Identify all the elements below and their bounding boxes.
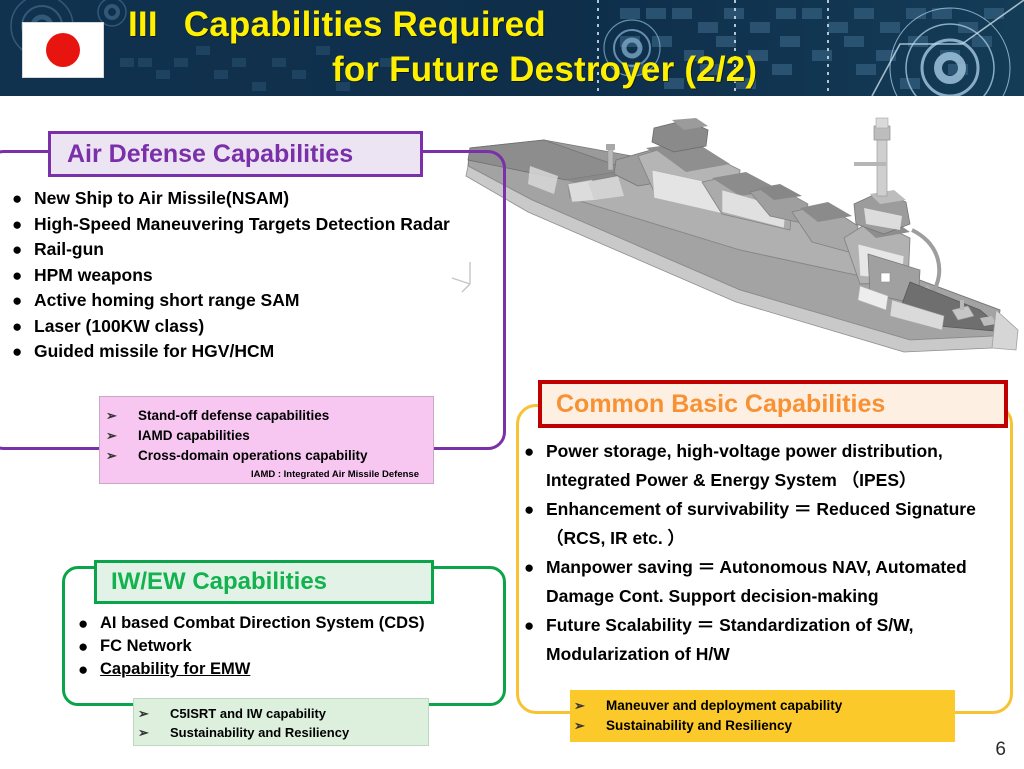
list-item: ● Active homing short range SAM <box>12 288 492 314</box>
arrow-bullet-icon: ➢ <box>574 696 606 716</box>
list-item: ➢ Maneuver and deployment capability <box>574 696 949 716</box>
banner-underline <box>0 96 1024 102</box>
bullet-icon: ● <box>12 288 34 314</box>
iw-ew-title: IW/EW Capabilities <box>111 568 327 596</box>
list-item-label: AI based Combat Direction System (CDS) <box>100 612 508 635</box>
arrow-bullet-icon: ➢ <box>106 426 138 446</box>
list-item-label: Stand-off defense capabilities <box>138 406 329 426</box>
list-item-label: Future Scalability ＝ Standardization of … <box>546 611 1019 669</box>
bullet-icon: ● <box>78 658 100 681</box>
list-item-label: Sustainability and Resiliency <box>170 723 349 742</box>
bullet-icon: ● <box>12 263 34 289</box>
list-item: ● New Ship to Air Missile(NSAM) <box>12 186 492 212</box>
bullet-icon: ● <box>78 635 100 658</box>
bullet-icon: ● <box>12 314 34 340</box>
arrow-bullet-icon: ➢ <box>106 406 138 426</box>
list-item: ➢ Sustainability and Resiliency <box>574 716 949 736</box>
bullet-icon: ● <box>524 553 546 582</box>
list-item-label: Guided missile for HGV/HCM <box>34 339 492 365</box>
list-item-label: IAMD capabilities <box>138 426 250 446</box>
iw-ew-summary-box: ➢ C5ISRT and IW capability ➢ Sustainabil… <box>133 698 429 746</box>
list-item-label: Sustainability and Resiliency <box>606 716 792 736</box>
list-item: ● Manpower saving ＝ Autonomous NAV, Auto… <box>524 553 1019 611</box>
common-basic-header: Common Basic Capabilities <box>538 380 1008 428</box>
future-destroyer-illustration <box>440 104 1024 380</box>
bullet-icon: ● <box>524 437 546 466</box>
bullet-icon: ● <box>12 212 34 238</box>
iw-ew-bullet-list: ● AI based Combat Direction System (CDS)… <box>78 612 508 681</box>
list-item: ● HPM weapons <box>12 263 492 289</box>
bullet-icon: ● <box>524 495 546 524</box>
list-item: ➢ Cross-domain operations capability <box>106 446 425 466</box>
slide-canvas: IIICapabilities Required for Future Dest… <box>0 0 1024 769</box>
list-item-label: Enhancement of survivability ＝ Reduced S… <box>546 495 1019 553</box>
list-item: ● High-Speed Maneuvering Targets Detecti… <box>12 212 492 238</box>
slide-header-banner: IIICapabilities Required for Future Dest… <box>0 0 1024 96</box>
list-item: ● Rail-gun <box>12 237 492 263</box>
arrow-bullet-icon: ➢ <box>138 704 170 723</box>
slide-title-line-1: IIICapabilities Required <box>120 2 910 47</box>
list-item-label: Active homing short range SAM <box>34 288 492 314</box>
bullet-icon: ● <box>524 611 546 640</box>
list-item-label: New Ship to Air Missile(NSAM) <box>34 186 492 212</box>
bullet-icon: ● <box>12 237 34 263</box>
air-defense-header: Air Defense Capabilities <box>48 131 423 177</box>
air-defense-bullet-list: ● New Ship to Air Missile(NSAM) ● High-S… <box>12 186 492 365</box>
list-item: ● Capability for EMW <box>78 658 508 681</box>
arrow-bullet-icon: ➢ <box>106 446 138 466</box>
slide-title-text-1: Capabilities Required <box>184 5 546 44</box>
slide-title-block: IIICapabilities Required for Future Dest… <box>120 2 910 92</box>
page-number: 6 <box>995 739 1006 761</box>
list-item-label: Maneuver and deployment capability <box>606 696 842 716</box>
list-item-label: High-Speed Maneuvering Targets Detection… <box>34 212 492 238</box>
list-item-label: Cross-domain operations capability <box>138 446 368 466</box>
list-item: ➢ IAMD capabilities <box>106 426 425 446</box>
common-basic-summary-box: ➢ Maneuver and deployment capability ➢ S… <box>570 690 955 742</box>
list-item-label: C5ISRT and IW capability <box>170 704 326 723</box>
list-item: ➢ C5ISRT and IW capability <box>138 704 422 723</box>
iamd-footnote: IAMD : Integrated Air Missile Defense <box>106 469 425 480</box>
bullet-icon: ● <box>12 186 34 212</box>
destroyer-3d-render <box>440 104 1024 380</box>
arrow-bullet-icon: ➢ <box>574 716 606 736</box>
list-item: ● Guided missile for HGV/HCM <box>12 339 492 365</box>
iw-ew-header: IW/EW Capabilities <box>94 560 434 604</box>
list-item: ● FC Network <box>78 635 508 658</box>
list-item: ● Laser (100KW class) <box>12 314 492 340</box>
arrow-bullet-icon: ➢ <box>138 723 170 742</box>
list-item: ● AI based Combat Direction System (CDS) <box>78 612 508 635</box>
list-item-label: FC Network <box>100 635 508 658</box>
list-item-label: Laser (100KW class) <box>34 314 492 340</box>
list-item: ● Power storage, high-voltage power dist… <box>524 437 1019 495</box>
japan-flag-disc <box>46 33 80 67</box>
list-item-label: Capability for EMW <box>100 658 508 681</box>
slide-title-line-2: for Future Destroyer (2/2) <box>120 47 910 92</box>
bullet-icon: ● <box>78 612 100 635</box>
list-item-label: HPM weapons <box>34 263 492 289</box>
air-defense-title: Air Defense Capabilities <box>67 140 353 169</box>
common-basic-title: Common Basic Capabilities <box>556 390 885 419</box>
list-item: ➢ Stand-off defense capabilities <box>106 406 425 426</box>
common-basic-bullet-list: ● Power storage, high-voltage power dist… <box>524 437 1019 669</box>
air-defense-summary-box: ➢ Stand-off defense capabilities ➢ IAMD … <box>99 396 434 484</box>
slide-section-numeral: III <box>128 5 158 44</box>
list-item: ➢ Sustainability and Resiliency <box>138 723 422 742</box>
list-item: ● Enhancement of survivability ＝ Reduced… <box>524 495 1019 553</box>
list-item-label: Power storage, high-voltage power distri… <box>546 437 1019 495</box>
japan-flag-icon <box>22 22 104 78</box>
list-item: ● Future Scalability ＝ Standardization o… <box>524 611 1019 669</box>
bullet-icon: ● <box>12 339 34 365</box>
list-item-label: Manpower saving ＝ Autonomous NAV, Automa… <box>546 553 1019 611</box>
list-item-label: Rail-gun <box>34 237 492 263</box>
